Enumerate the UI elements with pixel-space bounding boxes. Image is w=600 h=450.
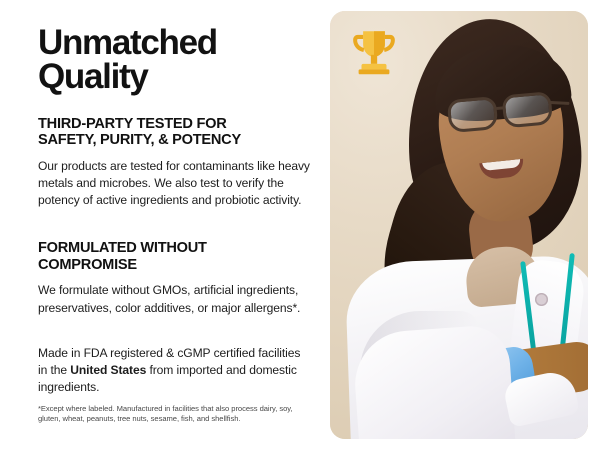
section-formulated-without-compromise: FORMULATED WITHOUT COMPROMISE We formula… <box>38 240 312 396</box>
manufacturing-country: United States <box>70 363 146 377</box>
glasses-temple <box>549 101 569 105</box>
copy-column: Unmatched Quality THIRD-PARTY TESTED FOR… <box>0 0 330 450</box>
lens-left <box>447 96 499 133</box>
section-spacer <box>38 213 312 240</box>
section-body-testing: Our products are tested for contaminants… <box>38 158 312 210</box>
photo-column <box>330 11 588 439</box>
section-third-party-tested: THIRD-PARTY TESTED FOR SAFETY, PURITY, &… <box>38 116 312 209</box>
scientist-photo <box>330 11 588 439</box>
quality-info-page: Unmatched Quality THIRD-PARTY TESTED FOR… <box>0 0 600 450</box>
trophy-icon <box>345 24 403 82</box>
lab-coat-button <box>535 293 548 306</box>
section-body-formulation: We formulate without GMOs, artificial in… <box>38 282 312 316</box>
lens-right <box>502 91 554 128</box>
section-heading-formulation: FORMULATED WITHOUT COMPROMISE <box>38 240 312 273</box>
section-body-manufacturing: Made in FDA registered & cGMP certified … <box>38 328 312 397</box>
allergen-disclaimer: *Except where labeled. Manufactured in f… <box>38 404 312 440</box>
section-heading-testing: THIRD-PARTY TESTED FOR SAFETY, PURITY, &… <box>38 116 312 149</box>
page-headline: Unmatched Quality <box>38 26 312 94</box>
lab-coat-sleeve <box>352 324 517 439</box>
